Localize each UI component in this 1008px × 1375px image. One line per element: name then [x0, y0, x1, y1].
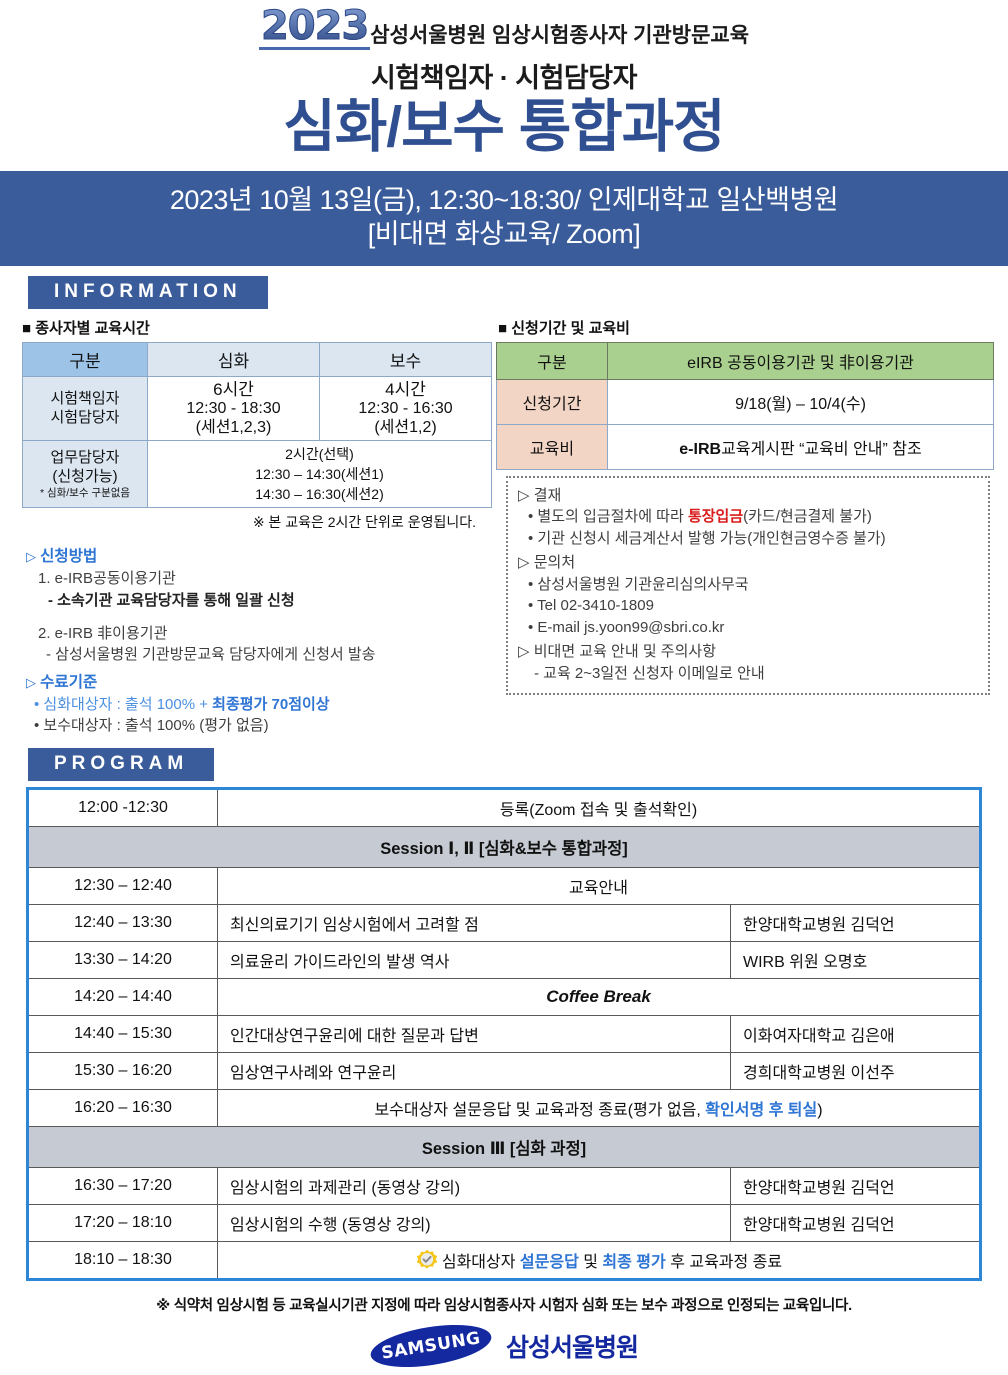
program-session-header-row: Session Ⅲ [심화 과정]	[28, 1127, 981, 1168]
completion-simhwa-text: 심화대상자 : 출석 100% +	[34, 696, 212, 713]
information-section: ■ 종사자별 교육시간 구분 심화 보수 시험책임자 시험담당자 6시간 12:…	[0, 317, 1008, 737]
program-row: 12:40 – 13:30최신의료기기 임상시험에서 고려할 점한양대학교병원 …	[28, 905, 981, 942]
payment-text-a: 별도의 입금절차에 따라	[528, 508, 688, 525]
completion-criteria-heading: ▷ 수료기준	[26, 672, 478, 694]
program-row: 17:20 – 18:10임상시험의 수행 (동영상 강의)한양대학교병원 김덕…	[28, 1205, 981, 1242]
program-topic-cell: 인간대상연구윤리에 대한 질문과 답변	[218, 1016, 731, 1053]
payment-text-c: (카드/현금결제 불가)	[743, 508, 872, 525]
program-section-header: PROGRAM	[28, 748, 1008, 781]
training-hours-table: 구분 심화 보수 시험책임자 시험담당자 6시간 12:30 - 18:30 (…	[22, 342, 492, 509]
hospital-name-label: 삼성서울병원	[506, 1328, 638, 1364]
program-speaker-cell: WIRB 위원 오명호	[731, 942, 981, 979]
online-notice-text: - 교육 2~3일전 신청자 이메일로 안내	[534, 663, 978, 685]
apply-item-1-num: 1. e-IRB	[38, 570, 93, 587]
program-topic-cell: 등록(Zoom 접속 및 출석확인)	[218, 789, 981, 827]
payment-line-1: 별도의 입금절차에 따라 통장입금(카드/현금결제 불가)	[528, 506, 978, 528]
program-row: 15:30 – 16:20임상연구사례와 연구윤리경희대학교병원 이선주	[28, 1053, 981, 1090]
fee-value-text: 교육게시판 “교육비 안내” 참조	[721, 441, 922, 458]
program-speaker-cell: 이화여자대학교 김은애	[731, 1016, 981, 1053]
bosu-sessions: (세션1,2)	[322, 419, 489, 438]
program-topic-cell: 보수대상자 설문응답 및 교육과정 종료(평가 없음, 확인서명 후 퇴실)	[218, 1090, 981, 1127]
program-row: 14:20 – 14:40Coffee Break	[28, 979, 981, 1016]
program-session-header-row: Session Ⅰ, Ⅱ [심화&보수 통합과정]	[28, 827, 981, 868]
banner-format: [비대면 화상교육/ Zoom]	[0, 217, 1008, 252]
header-subtitle-inline: 삼성서울병원 임상시험종사자 기관방문교육	[370, 25, 749, 50]
program-time-cell: 18:10 – 18:30	[28, 1242, 218, 1280]
simhwa-sessions: (세션1,2,3)	[150, 419, 317, 438]
program-row: 12:30 – 12:40교육안내	[28, 868, 981, 905]
apply-item-2: 2. e-IRB 非이용기관 - 삼성서울병원 기관방문교육 담당자에게 신청서…	[38, 623, 478, 666]
th-bosu: 보수	[320, 342, 492, 376]
bosu-duration: 4시간	[322, 380, 489, 400]
triangle-icon: ▷	[26, 675, 36, 690]
heading-label: 문의처	[534, 554, 575, 571]
contact-line-2: Tel 02-3410-1809	[528, 595, 978, 617]
header-top-line: 2023 삼성서울병원 임상시험종사자 기관방문교육	[0, 6, 1008, 50]
session-title: Session Ⅰ, Ⅱ [심화&보수 통합과정]	[28, 827, 981, 868]
program-row: 18:10 – 18:30심화대상자 설문응답 및 최종 평가 후 교육과정 종…	[28, 1242, 981, 1280]
program-topic-cell: 최신의료기기 임상시험에서 고려할 점	[218, 905, 731, 942]
topic-text-c: )	[817, 1102, 822, 1119]
contact-line-1: 삼성서울병원 기관윤리심의사무국	[528, 574, 978, 596]
program-time-cell: 14:20 – 14:40	[28, 979, 218, 1016]
program-time-cell: 12:40 – 13:30	[28, 905, 218, 942]
program-topic-cell: 임상시험의 수행 (동영상 강의)	[218, 1205, 731, 1242]
topic-text-a: 보수대상자 설문응답 및 교육과정 종료(평가 없음,	[374, 1102, 705, 1119]
simhwa-duration: 6시간	[150, 380, 317, 400]
program-time-cell: 12:00 -12:30	[28, 789, 218, 827]
training-hours-note: ※ 본 교육은 2시간 단위로 운영됩니다.	[14, 512, 476, 532]
apply-item-1-rest: 공동이용기관	[93, 570, 176, 587]
banner-date-venue: 2023년 10월 13일(금), 12:30~18:30/ 인제대학교 일산백…	[0, 183, 1008, 218]
program-speaker-cell: 한양대학교병원 김덕언	[731, 1205, 981, 1242]
completion-criteria-block: ▷ 수료기준 심화대상자 : 출석 100% + 최종평가 70점이상 보수대상…	[26, 672, 478, 737]
table-header-row: 구분 eIRB 공동이용기관 및 非이용기관	[497, 342, 994, 379]
row-label-fee: 교육비	[497, 424, 608, 469]
program-topic-cell: 임상연구사례와 연구윤리	[218, 1053, 731, 1090]
heading-label: 비대면 교육 안내 및 주의사항	[534, 643, 716, 660]
completion-bosu-text: 보수대상자 : 출석 100% (평가 없음)	[34, 717, 269, 734]
year-logo: 2023	[259, 6, 370, 50]
program-break-cell: Coffee Break	[218, 979, 981, 1016]
session-title: Session Ⅲ [심화 과정]	[28, 1127, 981, 1168]
program-row: 12:00 -12:30등록(Zoom 접속 및 출석확인)	[28, 789, 981, 827]
program-table: 12:00 -12:30등록(Zoom 접속 및 출석확인)Session Ⅰ,…	[26, 787, 982, 1281]
info-left-column: ■ 종사자별 교육시간 구분 심화 보수 시험책임자 시험담당자 6시간 12:…	[14, 317, 484, 737]
program-table-body: 12:00 -12:30등록(Zoom 접속 및 출석확인)Session Ⅰ,…	[28, 789, 981, 1280]
program-tag-label: PROGRAM	[28, 748, 214, 781]
program-time-cell: 16:20 – 16:30	[28, 1090, 218, 1127]
program-row: 14:40 – 15:30인간대상연구윤리에 대한 질문과 답변이화여자대학교 …	[28, 1016, 981, 1053]
accreditation-note: ※ 식약처 임상시험 등 교육실시기관 지정에 따라 임상시험종사자 시험자 심…	[0, 1294, 1008, 1315]
row-label-investigator: 시험책임자 시험담당자	[23, 376, 148, 441]
table-row: 업무담당자 (신청가능) * 심화/보수 구분없음 2시간(선택) 12:30 …	[23, 441, 492, 508]
th-category: 구분	[23, 342, 148, 376]
label-line-1: 시험책임자	[25, 390, 145, 409]
bosu-time: 12:30 - 16:30	[322, 400, 489, 419]
final-text-c: 및	[579, 1254, 603, 1271]
staff-duration: 2시간(선택)	[150, 444, 489, 464]
program-speaker-cell: 한양대학교병원 김덕언	[731, 1168, 981, 1205]
completion-score-requirement: 최종평가 70점이상	[212, 696, 329, 713]
heading-label: 신청방법	[40, 548, 97, 565]
program-row: 16:20 – 16:30보수대상자 설문응답 및 교육과정 종료(평가 없음,…	[28, 1090, 981, 1127]
final-highlight-2: 최종 평가	[602, 1254, 665, 1271]
program-time-cell: 16:30 – 17:20	[28, 1168, 218, 1205]
contact-tel[interactable]: Tel 02-3410-1809	[528, 597, 654, 614]
final-highlight-1: 설문응답	[520, 1254, 579, 1271]
program-time-cell: 14:40 – 15:30	[28, 1016, 218, 1053]
completion-line-1: 심화대상자 : 출석 100% + 최종평가 70점이상	[34, 694, 478, 715]
footer-logo: SAMSUNG 삼성서울병원	[0, 1327, 1008, 1365]
row-label-staff: 업무담당자 (신청가능) * 심화/보수 구분없음	[23, 441, 148, 508]
program-speaker-cell: 한양대학교병원 김덕언	[731, 905, 981, 942]
triangle-icon: ▷	[26, 549, 36, 564]
cell-bosu-hours: 4시간 12:30 - 16:30 (세션1,2)	[320, 376, 492, 441]
header-roles-line: 시험책임자 · 시험담당자	[0, 56, 1008, 95]
payment-contact-box: ▷ 결재 별도의 입금절차에 따라 통장입금(카드/현금결제 불가) 기관 신청…	[506, 476, 990, 696]
apply-item-2-sub: - 삼성서울병원 기관방문교육 담당자에게 신청서 발송	[46, 644, 478, 665]
payment-highlight: 통장입금	[688, 508, 743, 525]
triangle-icon: ▷	[518, 643, 530, 660]
cell-simhwa-hours: 6시간 12:30 - 18:30 (세션1,2,3)	[148, 376, 320, 441]
cell-fee-value: e-IRB교육게시판 “교육비 안내” 참조	[608, 424, 994, 469]
th-category: 구분	[497, 342, 608, 379]
program-row: 13:30 – 14:20의료윤리 가이드라인의 발생 역사WIRB 위원 오명…	[28, 942, 981, 979]
program-time-cell: 13:30 – 14:20	[28, 942, 218, 979]
apply-item-2-label: 2. e-IRB 非이용기관	[38, 623, 478, 644]
th-institutions: eIRB 공동이용기관 및 非이용기관	[608, 342, 994, 379]
online-notice-heading: ▷ 비대면 교육 안내 및 주의사항	[518, 641, 978, 663]
program-speaker-cell: 경희대학교병원 이선주	[731, 1053, 981, 1090]
payment-heading: ▷ 결재	[518, 485, 978, 507]
check-badge-icon	[415, 1249, 439, 1273]
staff-session-1: 12:30 – 14:30(세션1)	[150, 464, 489, 484]
contact-email[interactable]: E-mail js.yoon99@sbri.co.kr	[528, 619, 724, 636]
payment-tax-text: 기관 신청시 세금계산서 발행 가능(개인현금영수증 불가)	[528, 530, 886, 547]
simhwa-time: 12:30 - 18:30	[150, 400, 317, 419]
application-method-block: ▷ 신청방법 1. e-IRB공동이용기관 - 소속기관 교육담당자를 통해 일…	[26, 546, 478, 665]
program-time-cell: 17:20 – 18:10	[28, 1205, 218, 1242]
row-label-period: 신청기간	[497, 379, 608, 424]
contact-office: 삼성서울병원 기관윤리심의사무국	[528, 576, 749, 593]
program-topic-cell: 의료윤리 가이드라인의 발생 역사	[218, 942, 731, 979]
label-line-1: 업무담당자	[25, 449, 145, 468]
fee-value-prefix: e-IRB	[679, 441, 721, 458]
final-text-a: 심화대상자	[442, 1254, 520, 1271]
cell-period-value: 9/18(월) – 10/4(수)	[608, 379, 994, 424]
poster-header: 2023 삼성서울병원 임상시험종사자 기관방문교육 시험책임자 · 시험담당자…	[0, 0, 1008, 159]
program-time-cell: 12:30 – 12:40	[28, 868, 218, 905]
application-method-heading: ▷ 신청방법	[26, 546, 478, 568]
information-section-header: INFORMATION	[28, 276, 1008, 309]
program-topic-cell: 교육안내	[218, 868, 981, 905]
completion-line-2: 보수대상자 : 출석 100% (평가 없음)	[34, 715, 478, 736]
staff-session-2: 14:30 – 16:30(세션2)	[150, 484, 489, 504]
table-row: 신청기간 9/18(월) – 10/4(수)	[497, 379, 994, 424]
th-simhwa: 심화	[148, 342, 320, 376]
apply-item-1-sub: - 소속기관 교육담당자를 통해 일괄 신청	[48, 590, 478, 611]
label-note: * 심화/보수 구분없음	[25, 487, 145, 500]
contact-heading: ▷ 문의처	[518, 552, 978, 574]
contact-line-3: E-mail js.yoon99@sbri.co.kr	[528, 617, 978, 639]
final-text-e: 후 교육과정 종료	[666, 1254, 782, 1271]
table-header-row: 구분 심화 보수	[23, 342, 492, 376]
topic-highlight: 확인서명 후 퇴실	[705, 1102, 817, 1119]
payment-line-2: 기관 신청시 세금계산서 발행 가능(개인현금영수증 불가)	[528, 528, 978, 550]
program-section: 12:00 -12:30등록(Zoom 접속 및 출석확인)Session Ⅰ,…	[0, 787, 1008, 1281]
information-tag-label: INFORMATION	[28, 276, 268, 309]
label-line-2: (신청가능)	[25, 468, 145, 487]
fee-period-heading: ■ 신청기간 및 교육비	[498, 317, 994, 338]
info-right-column: ■ 신청기간 및 교육비 구분 eIRB 공동이용기관 및 非이용기관 신청기간…	[484, 317, 994, 737]
training-hours-heading: ■ 종사자별 교육시간	[22, 317, 484, 338]
heading-label: 결재	[534, 487, 562, 504]
program-final-cell: 심화대상자 설문응답 및 최종 평가 후 교육과정 종료	[218, 1242, 981, 1280]
program-time-cell: 15:30 – 16:20	[28, 1053, 218, 1090]
application-fee-table: 구분 eIRB 공동이용기관 및 非이용기관 신청기간 9/18(월) – 10…	[496, 342, 994, 470]
page-title: 심화/보수 통합과정	[0, 97, 1008, 159]
program-topic-cell: 임상시험의 과제관리 (동영상 강의)	[218, 1168, 731, 1205]
event-banner: 2023년 10월 13일(금), 12:30~18:30/ 인제대학교 일산백…	[0, 171, 1008, 266]
label-line-2: 시험담당자	[25, 409, 145, 428]
cell-staff-hours: 2시간(선택) 12:30 – 14:30(세션1) 14:30 – 16:30…	[148, 441, 492, 508]
apply-item-1: 1. e-IRB공동이용기관 - 소속기관 교육담당자를 통해 일괄 신청	[38, 568, 478, 611]
heading-label: 수료기준	[40, 674, 97, 691]
samsung-logo-text: SAMSUNG	[380, 1329, 482, 1364]
table-row: 교육비 e-IRB교육게시판 “교육비 안내” 참조	[497, 424, 994, 469]
samsung-logo-icon: SAMSUNG	[368, 1318, 494, 1375]
triangle-icon: ▷	[518, 487, 530, 504]
program-row: 16:30 – 17:20임상시험의 과제관리 (동영상 강의)한양대학교병원 …	[28, 1168, 981, 1205]
table-row: 시험책임자 시험담당자 6시간 12:30 - 18:30 (세션1,2,3) …	[23, 376, 492, 441]
triangle-icon: ▷	[518, 554, 530, 571]
